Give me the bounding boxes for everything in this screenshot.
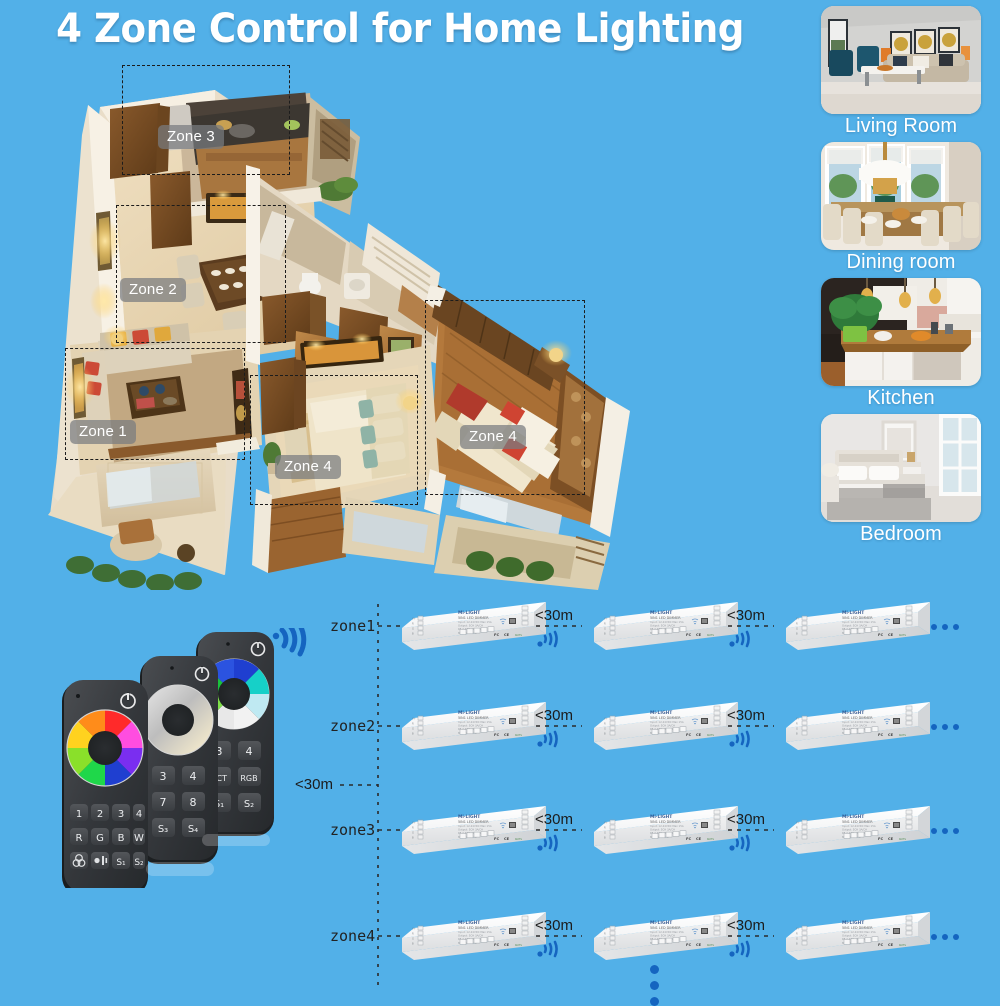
distance-label-3b: <30m	[727, 811, 765, 828]
room-card-dining-room: Dining room	[810, 142, 992, 274]
rgbw-remote: 1 2 3 4 R G B W S₁ S₂	[62, 680, 148, 888]
cct-remote: 3 4 7 8 S₃ S₄	[140, 656, 218, 864]
row-ellipsis-3	[931, 828, 959, 834]
svg-text:7: 7	[160, 796, 167, 809]
svg-text:S₂: S₂	[134, 858, 144, 868]
svg-text:S₄: S₄	[188, 824, 198, 835]
floorplan-artwork	[10, 45, 700, 590]
svg-text:G: G	[96, 833, 104, 844]
led-controller	[402, 912, 546, 960]
zone-row-label-3: zone3	[330, 821, 375, 839]
zone-tag-4a: Zone 4	[275, 455, 341, 479]
led-controller	[594, 702, 738, 750]
svg-text:4: 4	[190, 770, 197, 783]
zone-tag-1: Zone 1	[70, 420, 136, 444]
zone-row-4	[378, 912, 930, 960]
distance-label-4b: <30m	[727, 917, 765, 934]
room-thumbnail-list: Living Room	[810, 6, 992, 550]
svg-text:4: 4	[246, 745, 253, 758]
distance-label-4a: <30m	[535, 917, 573, 934]
svg-text:S₂: S₂	[244, 799, 254, 810]
distance-label-1a: <30m	[535, 607, 573, 624]
svg-text:B: B	[118, 833, 125, 844]
room-label-bedroom: Bedroom	[810, 523, 992, 546]
svg-text:S₁: S₁	[116, 858, 126, 868]
room-label-living-room: Living Room	[810, 115, 992, 138]
svg-text:RGB: RGB	[240, 774, 257, 783]
floorplan-illustration: Zone 3 Zone 2 Zone 1 Zone 4 Zone 4	[10, 45, 700, 590]
remote-controls-group: 3 4 CCT RGB S₁ S₂	[48, 628, 308, 888]
led-controller	[402, 602, 546, 650]
zone-tag-4b: Zone 4	[460, 425, 526, 449]
room-card-kitchen: Kitchen	[810, 278, 992, 410]
svg-text:4: 4	[136, 809, 142, 820]
svg-text:1: 1	[76, 809, 82, 820]
distance-label-2a: <30m	[535, 707, 573, 724]
wifi-signal-icon	[273, 628, 304, 654]
remote-controls-artwork: 3 4 CCT RGB S₁ S₂	[48, 628, 308, 888]
svg-text:3: 3	[118, 809, 124, 820]
rgb-color-wheel	[67, 710, 143, 786]
led-controller	[402, 702, 546, 750]
zone-row-label-2: zone2	[330, 717, 375, 735]
svg-text:W: W	[134, 833, 144, 844]
row-ellipsis-2	[931, 724, 959, 730]
zone-row-label-1: zone1	[330, 617, 375, 635]
living-room-thumbnail	[821, 6, 981, 114]
bedroom-thumbnail	[821, 414, 981, 522]
svg-text:8: 8	[190, 796, 197, 809]
led-controller	[786, 702, 930, 750]
zone-row-3	[378, 806, 930, 854]
room-label-dining-room: Dining room	[810, 251, 992, 274]
white-cct-wheel	[143, 685, 213, 755]
row-ellipsis-1	[931, 624, 959, 630]
room-card-living-room: Living Room	[810, 6, 992, 138]
kitchen-thumbnail	[821, 278, 981, 386]
zone-row-label-4: zone4	[330, 927, 375, 945]
zone-row-1	[378, 602, 930, 650]
page-root: 4 Zone Control for Home Lighting	[0, 0, 1000, 1000]
led-controller	[786, 602, 930, 650]
zone-row-2	[378, 702, 930, 750]
page-title: 4 Zone Control for Home Lighting	[47, 6, 754, 52]
zone-wiring-artwork: Mi·LIGHT 5IN1 LED DIMMER Input: 12-24VDC…	[300, 590, 1000, 1000]
zone-tag-2: Zone 2	[120, 278, 186, 302]
rgbw-remote-buttons: 1 2 3 4 R G B W S₁ S₂	[70, 804, 145, 869]
zone-tag-3: Zone 3	[158, 125, 224, 149]
led-controller	[402, 806, 546, 854]
zone-wiring-diagram: Mi·LIGHT 5IN1 LED DIMMER Input: 12-24VDC…	[300, 590, 1000, 1000]
room-card-bedroom: Bedroom	[810, 414, 992, 546]
distance-label-3a: <30m	[535, 811, 573, 828]
led-controller	[786, 912, 930, 960]
row-ellipsis-4	[931, 934, 959, 940]
led-controller	[594, 602, 738, 650]
svg-text:3: 3	[160, 770, 167, 783]
svg-text:2: 2	[97, 809, 103, 820]
led-controller	[594, 806, 738, 854]
room-label-kitchen: Kitchen	[810, 387, 992, 410]
svg-text:R: R	[76, 833, 83, 844]
dining-room-thumbnail	[821, 142, 981, 250]
distance-label-1b: <30m	[727, 607, 765, 624]
svg-text:S₃: S₃	[158, 824, 168, 835]
led-controller	[594, 912, 738, 960]
distance-label-2b: <30m	[727, 707, 765, 724]
led-controller	[786, 806, 930, 854]
